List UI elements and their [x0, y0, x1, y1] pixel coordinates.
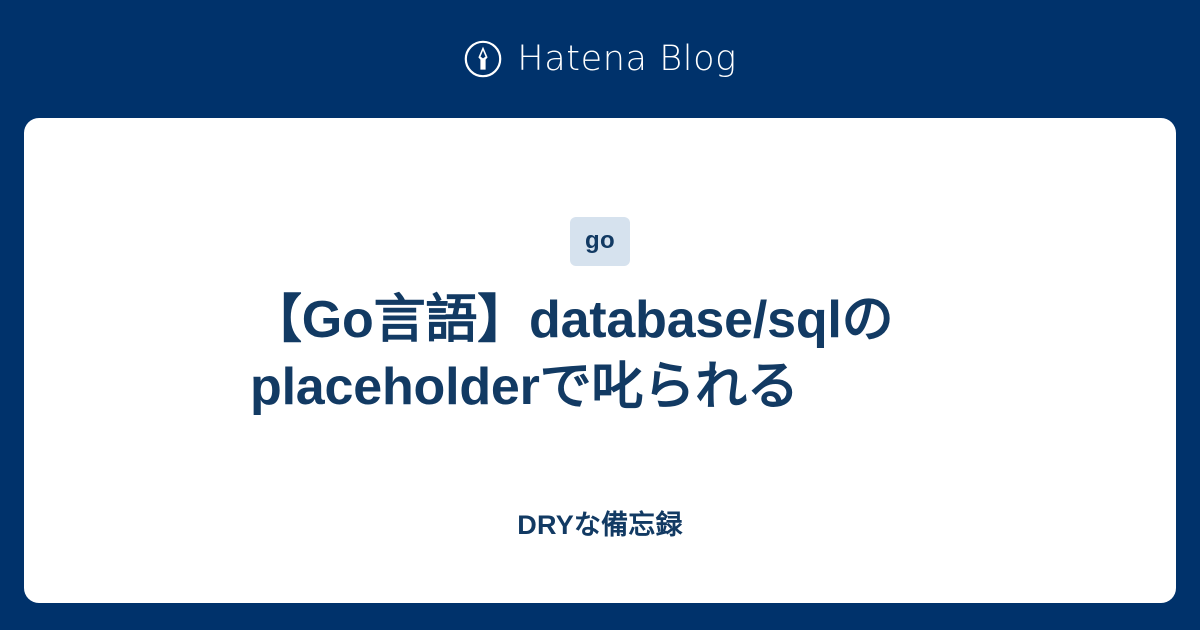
blog-name: DRYな備忘録 — [24, 512, 1176, 539]
brand-header: Hatena Blog — [0, 0, 1200, 118]
category-tag-go[interactable]: go — [570, 217, 630, 266]
brand-name: Hatena Blog — [517, 42, 736, 77]
category-tag-row: go — [24, 217, 1176, 266]
entry-card: go 【Go言語】database/sqlのplaceholderで叱られる D… — [24, 118, 1176, 603]
hatena-pen-nib-icon — [463, 39, 503, 79]
entry-title-wrap: 【Go言語】database/sqlのplaceholderで叱られる — [250, 287, 950, 420]
entry-title: 【Go言語】database/sqlのplaceholderで叱られる — [250, 287, 950, 420]
